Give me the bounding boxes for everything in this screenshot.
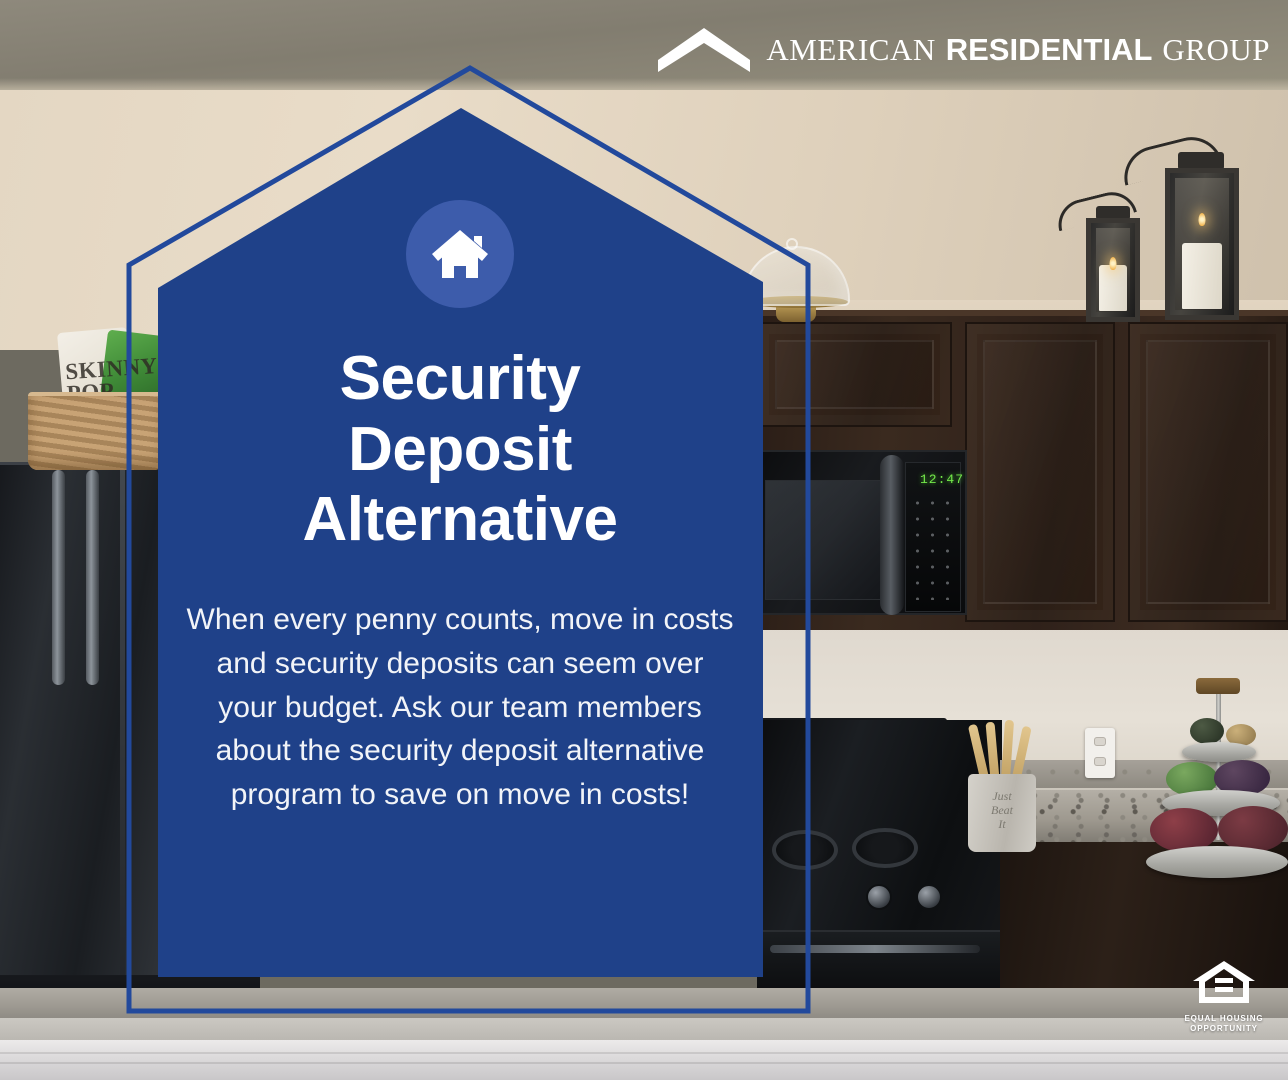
microwave-handle <box>880 455 904 615</box>
brand-word-residential: RESIDENTIAL <box>946 32 1153 68</box>
tiered-tray-bottom <box>1146 846 1288 878</box>
window-ledge-bottom <box>0 1040 1288 1080</box>
equal-housing-opportunity-logo: EQUAL HOUSING OPPORTUNITY <box>1182 959 1266 1034</box>
house-icon-badge <box>406 200 514 308</box>
equal-housing-opportunity-icon <box>1191 959 1257 1007</box>
promo-graphic-canvas: SKINNY POP 12:47 12:54 <box>0 0 1288 1080</box>
refrigerator-handle-left <box>52 470 65 685</box>
burner-right <box>852 828 918 868</box>
wall-outlet <box>1085 728 1115 778</box>
headline-line-3: Alternative <box>303 485 618 554</box>
chevron-roof-icon <box>658 26 750 74</box>
produce-6 <box>1218 806 1288 852</box>
house-icon <box>428 226 492 282</box>
crock-text-line3: It <box>998 817 1005 831</box>
tiered-tray-handle <box>1196 678 1240 694</box>
crock-text-line1: Just <box>992 789 1011 803</box>
cabinet-door-3 <box>1128 322 1288 622</box>
eho-line-1: EQUAL HOUSING <box>1184 1014 1263 1023</box>
headline-line-1: Security <box>340 344 581 413</box>
utensil-crock-label: Just Beat It <box>972 790 1032 831</box>
microwave-clock-display: 12:47 <box>920 472 964 487</box>
brand-wordmark: AMERICAN RESIDENTIAL GROUP <box>766 32 1270 68</box>
microwave-window <box>765 480 885 600</box>
wicker-basket <box>28 392 164 470</box>
brand-word-group: GROUP <box>1162 32 1270 68</box>
page-title: Security Deposit Alternative <box>170 344 750 556</box>
window-ledge-mid <box>0 1018 1288 1042</box>
refrigerator-door-seam <box>120 466 125 1022</box>
eho-caption: EQUAL HOUSING OPPORTUNITY <box>1182 1014 1266 1034</box>
promo-card-content: Security Deposit Alternative When every … <box>170 200 750 817</box>
oven-handle <box>770 945 980 953</box>
headline-line-2: Deposit <box>348 415 572 484</box>
burner-left <box>772 830 838 870</box>
produce-1 <box>1190 718 1224 744</box>
cabinet-door-1 <box>757 322 952 427</box>
lantern-large <box>1165 168 1239 320</box>
refrigerator-handle-right <box>86 470 99 685</box>
window-ledge-top <box>0 988 1288 1020</box>
cloche-knob <box>786 238 798 250</box>
eho-line-2: OPPORTUNITY <box>1190 1024 1258 1033</box>
microwave-keypad <box>910 495 956 600</box>
stove-knob-2 <box>916 884 942 910</box>
brand-logo[interactable]: AMERICAN RESIDENTIAL GROUP <box>658 26 1270 74</box>
lantern-small <box>1086 218 1140 322</box>
tiered-tray-top <box>1182 742 1256 762</box>
crock-text-line2: Beat <box>991 803 1013 817</box>
brand-word-american: AMERICAN <box>766 32 935 68</box>
cabinet-door-2 <box>965 322 1115 622</box>
body-paragraph: When every penny counts, move in costs a… <box>170 598 750 817</box>
stove-knob-1 <box>866 884 892 910</box>
